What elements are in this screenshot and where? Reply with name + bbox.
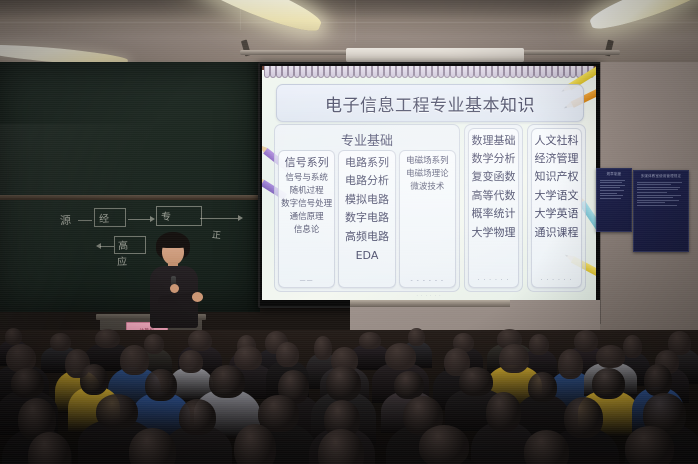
slide-column-group-label: 数理基础 [472,132,516,148]
slide-column: 电磁场系列电磁场理论微波技术- - - - - - [399,150,456,288]
audience-member-head [28,432,71,464]
audience-member-head [359,332,381,349]
audience-member-head [326,366,361,401]
wall-sign-title: 多媒体教室使用管理规定 [634,171,688,178]
slide-course-item: 大学语文 [535,189,579,203]
audience-member-head [529,334,549,355]
slide-course-item: 数字信号处理 [281,199,332,210]
wall-sign-text [597,176,631,202]
teacher-presenter [140,232,210,328]
slide-group: 数理基础数学分析复变函数高等代数概率统计大学物理· · · · · · [464,124,523,292]
audience-member-head [5,328,22,345]
audience-member-head [564,397,603,438]
audience-member-head [179,350,203,373]
desk-edge [350,300,510,307]
slide-column-title: 电路系列 [345,154,389,170]
hair-fringe [157,236,189,248]
slide-column-ellipsis: · · · · · · [541,277,573,285]
audience [0,330,698,464]
audience-member-head [50,333,71,351]
slide-course-item: 信息论 [294,225,320,236]
slide-column: 电路系列电路分析模拟电路数字电路高频电路EDA [338,150,395,288]
projector-screen-housing [346,48,524,62]
chalk-note: 高 [118,237,129,253]
slide-title-text: 电子信息工程专业基本知识 [325,91,535,116]
chalk-note: 正 [211,228,221,242]
chalk-arrow-line [200,218,238,219]
audience-member-head [385,343,416,370]
wall-sign: 规章制度 [596,168,632,232]
slide-course-item: 复变函数 [472,170,516,184]
slide-course-item: 模拟电路 [345,193,389,207]
spiral-binding-icon [262,66,596,78]
slide-group-columns: 信号系列信号与系统随机过程数字信号处理通信原理信息论——电路系列电路分析模拟电路… [278,150,456,288]
slide-course-item: 大学物理 [472,226,516,240]
slide-course-item: 知识产权 [535,170,579,184]
slide-column-title: 信号系列 [285,154,329,170]
projected-slide: 电子信息工程专业基本知识 专业基础信号系列信号与系统随机过程数字信号处理通信原理… [262,66,596,300]
slide-course-item: EDA [356,249,379,263]
audience-member-head [95,329,120,348]
slide-column-ellipsis: - - - - - - [411,277,445,285]
audience-member-head [623,335,642,358]
slide-column-group-label: 人文社科 [535,132,579,148]
audience-member-head [234,424,276,464]
audience-member-head [486,392,521,432]
audience-member-head [11,368,44,398]
slide-column-ellipsis: · · · · · · [478,277,510,285]
wall-sign-text [634,178,688,210]
chalk-dash [78,220,92,221]
slide-group-columns: 数理基础数学分析复变函数高等代数概率统计大学物理· · · · · · [468,128,519,288]
slide-course-item: 随机过程 [290,186,324,197]
slide-course-item: 电路分析 [345,174,389,188]
slide-course-item: 高等代数 [472,189,516,203]
wall-sign-title: 规章制度 [597,169,631,176]
audience-member-head [644,364,672,396]
chalk-note: 专 [160,208,171,224]
slide-column-groups: 专业基础信号系列信号与系统随机过程数字信号处理通信原理信息论——电路系列电路分析… [274,124,586,292]
audience-member-head [558,349,583,379]
audience-member-head [314,336,332,360]
slide-footer: · · · · · · [262,293,596,298]
wall-sign: 多媒体教室使用管理规定 [633,170,689,252]
chalk-note: 源 [59,212,71,229]
hand [170,284,179,293]
audience-member-head [596,345,625,368]
lecture-hall-photo: 源 经 专 正 高 应 [0,0,698,464]
audience-member-head [592,368,625,399]
hand [192,292,203,302]
slide-course-item: 高频电路 [345,230,389,244]
slide-course-item: 信号与系统 [285,173,328,184]
slide-course-item: 数字电路 [345,211,389,225]
slide-course-item: 大学英语 [535,207,579,221]
slide-column-title: 经济管理 [535,150,579,166]
audience-member-head [419,425,469,464]
slide-group: 专业基础信号系列信号与系统随机过程数字信号处理通信原理信息论——电路系列电路分析… [274,124,460,292]
audience-member-head [574,330,598,352]
audience-member-head [394,371,424,399]
slide-column: 数理基础数学分析复变函数高等代数概率统计大学物理· · · · · · [468,128,519,288]
audience-member-head [625,426,674,464]
chalk-tray [0,195,260,200]
chalk-note: 应 [117,253,128,268]
slide-column-ellipsis: —— [300,277,314,285]
audience-member-head [209,365,245,398]
chalk-arrow-line [128,219,150,220]
slide-course-item: 通信原理 [290,212,324,223]
audience-member-head [80,364,108,395]
slide-column: 人文社科经济管理知识产权大学语文大学英语通识课程· · · · · · [531,128,582,288]
audience-member-head [179,399,216,435]
chalk-note: 经 [99,210,110,226]
slide-course-item: 微波技术 [410,182,444,193]
audience-member-head [188,330,212,351]
slide-column: 信号系列信号与系统随机过程数字信号处理通信原理信息论—— [278,150,335,288]
chalk-arrow-icon [150,216,155,222]
ceiling-seam [355,0,356,42]
audience-member-head [234,346,262,370]
audience-member-head [408,328,425,346]
audience-member-head [96,394,138,429]
blackboard [0,62,260,312]
chalk-arrow-icon [238,215,243,221]
slide-group: 人文社科经济管理知识产权大学语文大学英语通识课程· · · · · · [527,124,586,292]
audience-member-head [276,342,299,367]
slide-group-title: 专业基础 [278,128,456,150]
slide-column-title: 电磁场系列 [406,154,449,166]
slide-course-item: 概率统计 [472,207,516,221]
audience-member-head [499,344,529,373]
audience-member-head [528,372,557,402]
audience-member-head [459,367,493,396]
slide-course-item: 通识课程 [535,226,579,240]
audience-member-head [120,345,149,375]
audience-member-head [145,369,177,401]
slide-course-item: 电磁场理论 [406,169,449,180]
slide-column-title: 数学分析 [472,150,516,166]
slide-group-columns: 人文社科经济管理知识产权大学语文大学英语通识课程· · · · · · [531,128,582,288]
chalk-arrow-line [100,246,114,247]
audience-member-head [144,334,164,354]
slide-title: 电子信息工程专业基本知识 [276,84,584,122]
